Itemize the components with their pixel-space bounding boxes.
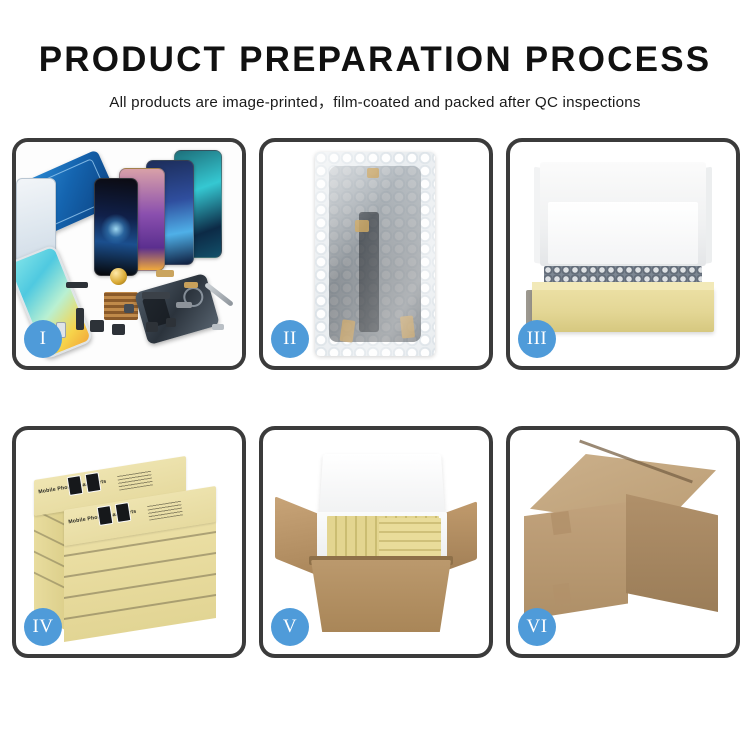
spare-part [112, 324, 125, 335]
spare-part [176, 302, 192, 308]
spare-part [156, 270, 174, 277]
step-panel-1: I [12, 138, 246, 370]
spare-part [142, 292, 170, 299]
carton-with-foam [275, 452, 477, 638]
carton-front-face [524, 502, 628, 620]
inner-box-open [526, 160, 720, 344]
inner-boxes-row [379, 518, 441, 558]
carton-tape-patch [551, 511, 572, 535]
yellow-box-body [532, 288, 714, 332]
foam-lid [319, 454, 445, 519]
step-badge-4: IV [24, 608, 62, 646]
step-panel-2: II [259, 138, 493, 370]
sealed-carton [524, 454, 722, 632]
step-badge-3: III [518, 320, 556, 358]
spare-part [66, 282, 88, 288]
process-steps-grid: I II [12, 138, 740, 690]
spare-part [212, 324, 224, 330]
step-panel-6: VI [506, 426, 740, 658]
spare-part [166, 318, 176, 327]
spare-part [184, 282, 198, 288]
phone-screen-fan [78, 148, 242, 278]
step-badge-6: VI [518, 608, 556, 646]
carton-side-face [626, 494, 718, 612]
step-panel-4: Mobile Phone Spare Parts Mobile Phone Sp… [12, 426, 246, 658]
step-badge-2: II [271, 320, 309, 358]
bubble-wrap-bag [315, 152, 435, 356]
phone-screen-4 [94, 178, 138, 276]
stacked-kraft-boxes: Mobile Phone Spare Parts Mobile Phone Sp… [30, 450, 230, 640]
box-screen-thumbnail [85, 472, 102, 493]
carton-body [311, 560, 451, 632]
step-badge-5: V [271, 608, 309, 646]
spare-part [146, 322, 158, 332]
product-preparation-infographic: PRODUCT PREPARATION PROCESS All products… [0, 0, 750, 750]
box-screen-thumbnail [67, 475, 84, 496]
page-title: PRODUCT PREPARATION PROCESS [0, 42, 750, 77]
spare-part [124, 304, 134, 313]
step-panel-3: III [506, 138, 740, 370]
page-subtitle: All products are image-printed，film-coat… [0, 90, 750, 112]
spare-part [76, 308, 84, 330]
step-badge-1: I [24, 320, 62, 358]
carton-tape-patch [553, 583, 572, 605]
plastic-sheen [315, 152, 435, 356]
step-panel-5: V [259, 426, 493, 658]
spare-part [90, 320, 104, 332]
box-screen-thumbnail [115, 502, 132, 523]
foam-liner-face [548, 202, 698, 264]
header: PRODUCT PREPARATION PROCESS All products… [0, 0, 750, 112]
box-screen-thumbnail [97, 505, 114, 526]
gold-component [110, 268, 127, 285]
